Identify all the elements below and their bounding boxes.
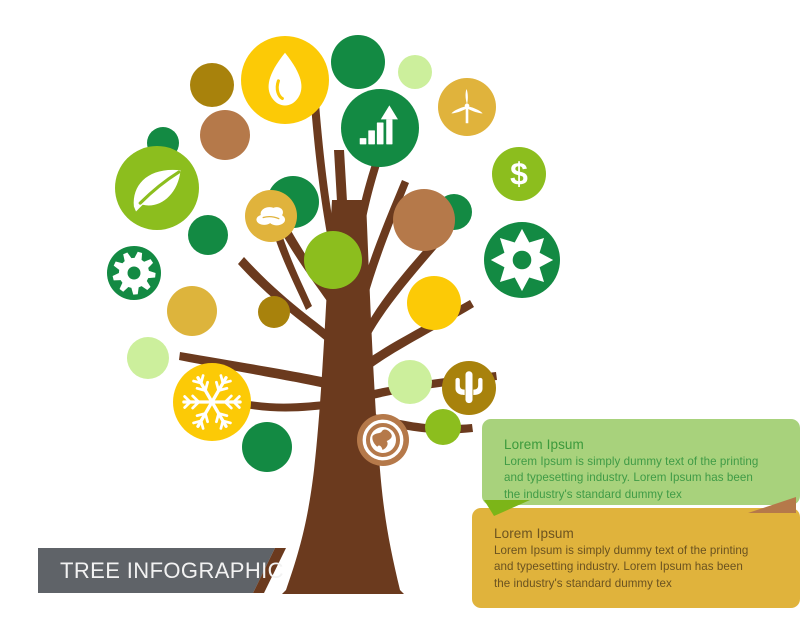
gear-icon[interactable] xyxy=(107,246,161,300)
bar-chart-growth-icon[interactable] xyxy=(341,89,419,167)
decor-circle-gold-1 xyxy=(167,286,217,336)
snowflake-icon[interactable] xyxy=(173,363,251,441)
decor-circle-lightgreen-1 xyxy=(398,55,432,89)
sun-icon[interactable] xyxy=(484,222,560,298)
dollar-icon[interactable]: $ xyxy=(492,147,546,201)
callout-yellow-tail xyxy=(748,497,796,513)
title-banner: TREE INFOGRAPHIC xyxy=(38,548,286,593)
svg-text:$: $ xyxy=(510,155,528,191)
callout-green[interactable]: Lorem Ipsum Lorem Ipsum is simply dummy … xyxy=(482,419,800,505)
water-drop-icon[interactable] xyxy=(241,36,329,124)
decor-circle-lightgreen-2 xyxy=(127,337,169,379)
callout-yellow-title: Lorem Ipsum xyxy=(494,526,778,541)
decor-circle-yellow-1 xyxy=(407,276,461,330)
decor-circle-tan-2 xyxy=(393,189,455,251)
cactus-icon[interactable] xyxy=(442,361,496,415)
decor-circle-olive-1 xyxy=(190,63,234,107)
decor-circle-olive-2 xyxy=(258,296,290,328)
decor-circle-lightgreen-3 xyxy=(388,360,432,404)
globe-icon[interactable] xyxy=(357,414,409,466)
infographic-canvas: $ Lorem Ipsum Lorem Ipsum is simply dumm… xyxy=(0,0,800,623)
callout-yellow-body: Lorem Ipsum is simply dummy text of the … xyxy=(494,543,762,592)
decor-circle-yellowgreen-1 xyxy=(304,231,362,289)
callout-green-tail xyxy=(484,500,530,516)
decor-circle-yellowgreen-2 xyxy=(425,409,461,445)
wind-turbine-icon[interactable] xyxy=(438,78,496,136)
decor-circle-green-5 xyxy=(188,215,228,255)
leaf-icon[interactable] xyxy=(115,146,199,230)
decor-circle-green-1 xyxy=(331,35,385,89)
cloud-icon[interactable] xyxy=(245,190,297,242)
decor-circle-tan-1 xyxy=(200,110,250,160)
decor-circle-green-6 xyxy=(242,422,292,472)
callout-green-body: Lorem Ipsum is simply dummy text of the … xyxy=(504,454,772,503)
page-title: TREE INFOGRAPHIC xyxy=(60,558,284,584)
callout-yellow[interactable]: Lorem Ipsum Lorem Ipsum is simply dummy … xyxy=(472,508,800,608)
callout-green-title: Lorem Ipsum xyxy=(504,437,778,452)
